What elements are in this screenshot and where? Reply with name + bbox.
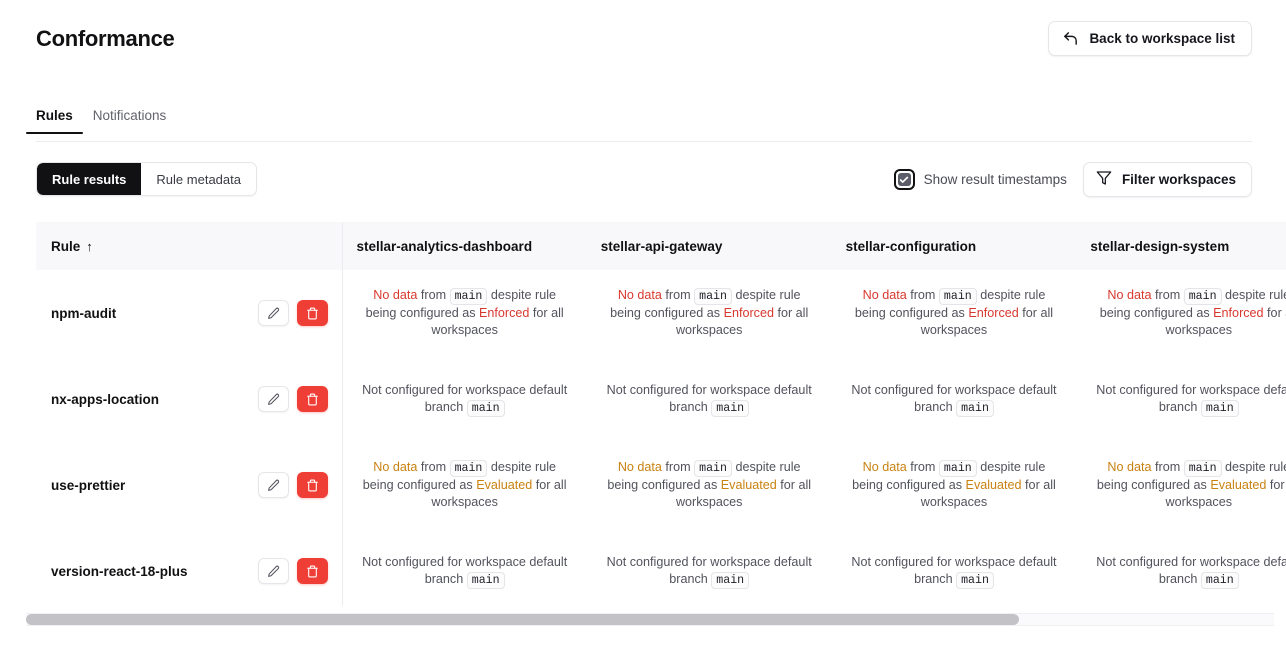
checkbox-focus-ring <box>894 169 915 190</box>
column-header-workspace-label: stellar-design-system <box>1090 239 1229 254</box>
result-text: No data from main despite rule being con… <box>1090 459 1286 511</box>
branch-badge: main <box>694 288 732 305</box>
pencil-icon <box>267 479 280 492</box>
view-mode-segmented-control: Rule results Rule metadata <box>36 162 257 196</box>
horizontal-scrollbar-track[interactable] <box>26 613 1274 626</box>
result-text: No data from main despite rule being con… <box>357 459 573 511</box>
tab-divider <box>36 141 1252 142</box>
tab-notifications[interactable]: Notifications <box>83 108 177 134</box>
rule-actions <box>258 300 328 326</box>
column-header-rule-label: Rule <box>51 239 80 254</box>
branch-badge: main <box>956 572 994 589</box>
column-header-workspace[interactable]: stellar-design-system <box>1076 222 1286 270</box>
column-header-rule[interactable]: Rule↑ <box>36 222 342 270</box>
table-row: nx-apps-locationNot configured for works… <box>36 356 1286 442</box>
branch-badge: main <box>956 400 994 417</box>
result-cell: Not configured for workspace default bra… <box>342 356 587 442</box>
result-severity-label: No data <box>863 288 907 302</box>
rule-cell: use-prettier <box>36 442 342 528</box>
result-text: No data from main despite rule being con… <box>601 287 818 339</box>
rule-cell-inner: npm-audit <box>51 300 328 326</box>
rule-cell-inner: use-prettier <box>51 472 328 498</box>
rule-cell: npm-audit <box>36 270 342 356</box>
result-cell: No data from main despite rule being con… <box>1076 270 1286 356</box>
rule-name: nx-apps-location <box>51 392 159 407</box>
result-severity-label: No data <box>618 288 662 302</box>
table-row: version-react-18-plusNot configured for … <box>36 528 1286 606</box>
page-header: Conformance Back to workspace list <box>0 0 1286 78</box>
rule-name: version-react-18-plus <box>51 564 188 579</box>
result-severity-label: No data <box>618 460 662 474</box>
conformance-table-viewport: Rule↑stellar-analytics-dashboardstellar-… <box>36 222 1286 606</box>
sort-ascending-icon: ↑ <box>86 239 93 254</box>
result-text: No data from main despite rule being con… <box>846 287 1063 339</box>
result-text: No data from main despite rule being con… <box>846 459 1063 511</box>
undo-arrow-icon <box>1062 30 1079 47</box>
branch-badge: main <box>1184 460 1222 477</box>
tab-bar: Rules Notifications <box>36 108 176 134</box>
rule-cell-inner: version-react-18-plus <box>51 558 328 584</box>
rule-cell: version-react-18-plus <box>36 528 342 606</box>
column-header-workspace-label: stellar-api-gateway <box>601 239 723 254</box>
rule-name: npm-audit <box>51 306 116 321</box>
result-status-label: Evaluated <box>476 478 532 492</box>
check-icon <box>899 175 909 185</box>
tab-rules[interactable]: Rules <box>26 108 83 134</box>
result-severity-label: No data <box>1107 460 1151 474</box>
result-status-label: Enforced <box>1213 306 1263 320</box>
conformance-table: Rule↑stellar-analytics-dashboardstellar-… <box>36 222 1286 606</box>
checkbox-box <box>898 173 911 186</box>
branch-badge: main <box>939 460 977 477</box>
funnel-icon <box>1096 170 1112 189</box>
result-cell: Not configured for workspace default bra… <box>587 528 832 606</box>
branch-badge: main <box>939 288 977 305</box>
edit-rule-button[interactable] <box>258 472 289 498</box>
branch-badge: main <box>467 572 505 589</box>
result-severity-label: No data <box>373 460 417 474</box>
horizontal-scrollbar-thumb[interactable] <box>26 614 1019 625</box>
result-status-label: Enforced <box>968 306 1018 320</box>
result-text: No data from main despite rule being con… <box>1090 287 1286 339</box>
result-status-label: Evaluated <box>1210 478 1266 492</box>
rule-cell: nx-apps-location <box>36 356 342 442</box>
rule-cell-inner: nx-apps-location <box>51 386 328 412</box>
delete-rule-button[interactable] <box>297 386 328 412</box>
result-text: No data from main despite rule being con… <box>601 459 818 511</box>
result-cell: Not configured for workspace default bra… <box>587 356 832 442</box>
result-text: Not configured for workspace default bra… <box>1090 382 1286 417</box>
table-header: Rule↑stellar-analytics-dashboardstellar-… <box>36 222 1286 270</box>
result-status-label: Enforced <box>479 306 529 320</box>
trash-icon <box>306 307 319 320</box>
branch-badge: main <box>1201 400 1239 417</box>
result-text: Not configured for workspace default bra… <box>1090 554 1286 589</box>
column-header-workspace[interactable]: stellar-configuration <box>832 222 1077 270</box>
edit-rule-button[interactable] <box>258 558 289 584</box>
pencil-icon <box>267 307 280 320</box>
result-text: Not configured for workspace default bra… <box>357 554 573 589</box>
result-cell: Not configured for workspace default bra… <box>1076 356 1286 442</box>
result-text: Not configured for workspace default bra… <box>357 382 573 417</box>
delete-rule-button[interactable] <box>297 472 328 498</box>
result-status-label: Evaluated <box>966 478 1022 492</box>
branch-badge: main <box>450 460 488 477</box>
checkbox-label: Show result timestamps <box>924 172 1067 187</box>
result-status-label: Evaluated <box>721 478 777 492</box>
branch-badge: main <box>711 572 749 589</box>
result-cell: Not configured for workspace default bra… <box>832 528 1077 606</box>
result-cell: No data from main despite rule being con… <box>832 270 1077 356</box>
rule-actions <box>258 472 328 498</box>
column-header-workspace[interactable]: stellar-api-gateway <box>587 222 832 270</box>
column-header-workspace-label: stellar-configuration <box>846 239 977 254</box>
result-severity-label: No data <box>373 288 417 302</box>
branch-badge: main <box>711 400 749 417</box>
rule-name: use-prettier <box>51 478 125 493</box>
trash-icon <box>306 479 319 492</box>
page-title: Conformance <box>36 26 175 52</box>
column-header-workspace[interactable]: stellar-analytics-dashboard <box>342 222 587 270</box>
pencil-icon <box>267 393 280 406</box>
delete-rule-button[interactable] <box>297 300 328 326</box>
rule-actions <box>258 386 328 412</box>
table-body: npm-auditNo data from main despite rule … <box>36 270 1286 606</box>
result-text: No data from main despite rule being con… <box>357 287 573 339</box>
branch-badge: main <box>450 288 488 305</box>
result-text: Not configured for workspace default bra… <box>846 554 1063 589</box>
trash-icon <box>306 565 319 578</box>
table-row: use-prettierNo data from main despite ru… <box>36 442 1286 528</box>
result-cell: No data from main despite rule being con… <box>1076 442 1286 528</box>
result-severity-label: No data <box>1107 288 1151 302</box>
result-text: Not configured for workspace default bra… <box>601 554 818 589</box>
back-to-workspace-list-button[interactable]: Back to workspace list <box>1048 21 1252 56</box>
delete-rule-button[interactable] <box>297 558 328 584</box>
column-header-workspace-label: stellar-analytics-dashboard <box>357 239 533 254</box>
back-button-label: Back to workspace list <box>1089 31 1235 46</box>
result-status-label: Enforced <box>724 306 774 320</box>
result-cell: Not configured for workspace default bra… <box>1076 528 1286 606</box>
toolbar-right: Show result timestamps Filter workspaces <box>894 162 1252 197</box>
table-header-row: Rule↑stellar-analytics-dashboardstellar-… <box>36 222 1286 270</box>
segment-rule-metadata[interactable]: Rule metadata <box>141 163 256 195</box>
segment-rule-results[interactable]: Rule results <box>37 163 141 195</box>
edit-rule-button[interactable] <box>258 386 289 412</box>
result-text: Not configured for workspace default bra… <box>846 382 1063 417</box>
branch-badge: main <box>1201 572 1239 589</box>
result-cell: No data from main despite rule being con… <box>342 442 587 528</box>
edit-rule-button[interactable] <box>258 300 289 326</box>
result-cell: No data from main despite rule being con… <box>342 270 587 356</box>
pencil-icon <box>267 565 280 578</box>
result-cell: No data from main despite rule being con… <box>832 442 1077 528</box>
branch-badge: main <box>1184 288 1222 305</box>
trash-icon <box>306 393 319 406</box>
result-cell: No data from main despite rule being con… <box>587 442 832 528</box>
show-result-timestamps-checkbox[interactable]: Show result timestamps <box>894 169 1067 190</box>
result-cell: Not configured for workspace default bra… <box>342 528 587 606</box>
result-cell: No data from main despite rule being con… <box>587 270 832 356</box>
result-cell: Not configured for workspace default bra… <box>832 356 1077 442</box>
rule-actions <box>258 558 328 584</box>
branch-badge: main <box>467 400 505 417</box>
result-severity-label: No data <box>863 460 907 474</box>
branch-badge: main <box>694 460 732 477</box>
table-row: npm-auditNo data from main despite rule … <box>36 270 1286 356</box>
result-text: Not configured for workspace default bra… <box>601 382 818 417</box>
filter-button-label: Filter workspaces <box>1122 172 1236 187</box>
filter-workspaces-button[interactable]: Filter workspaces <box>1083 162 1252 197</box>
